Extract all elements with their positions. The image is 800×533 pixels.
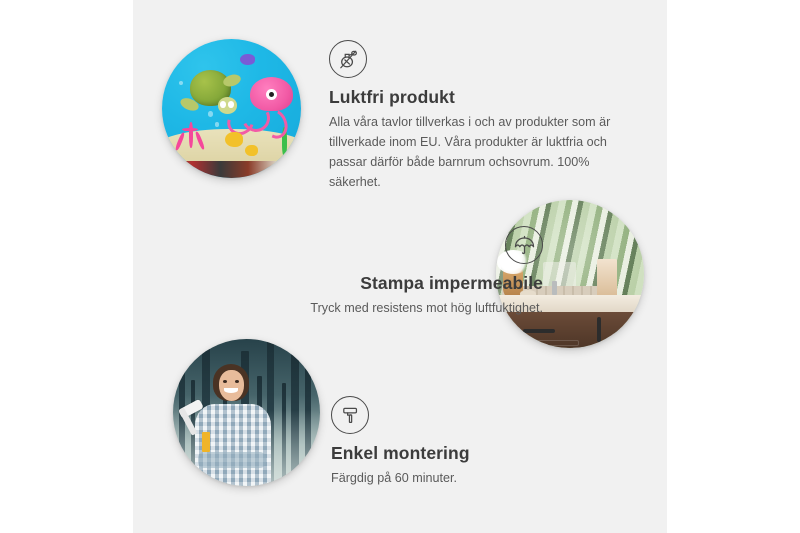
feature-panel: Luktfri produkt Alla våra tavlor tillver… xyxy=(133,0,667,533)
bubble-icon xyxy=(215,122,219,126)
underwater-scene xyxy=(162,39,301,178)
forest-wallpaper-scene xyxy=(173,339,320,486)
feature-description: Färgdig på 60 minuter. xyxy=(331,469,631,489)
icon-row xyxy=(331,396,631,434)
coral-icon xyxy=(175,120,208,153)
vanity-drawer xyxy=(511,340,580,346)
bubble-icon xyxy=(179,81,183,85)
purple-fish-icon xyxy=(240,54,255,65)
no-smell-perfume-bottle-icon xyxy=(329,40,367,78)
feature-title: Luktfri produkt xyxy=(329,87,629,109)
feature-title: Stampa impermeabile xyxy=(215,273,543,295)
woman-face xyxy=(219,370,244,401)
product-feature-page: Luktfri produkt Alla våra tavlor tillver… xyxy=(0,0,800,533)
feature-block-odor-free: Luktfri produkt Alla våra tavlor tillver… xyxy=(329,40,629,192)
icon-row xyxy=(329,40,629,78)
mirror xyxy=(543,262,576,289)
yellow-fish-icon xyxy=(225,132,243,147)
feature-title: Enkel montering xyxy=(331,443,631,465)
paint-roller-icon xyxy=(331,396,369,434)
feature-block-waterproof-print: Stampa impermeabile Tryck med resistens … xyxy=(215,226,543,319)
feature-image-woman-with-paint-roller xyxy=(173,339,320,486)
feature-block-easy-installation: Enkel montering Färgdig på 60 minuter. xyxy=(331,396,631,489)
woman-crossed-arms xyxy=(198,452,266,468)
faucet xyxy=(552,281,556,294)
icon-row xyxy=(215,226,543,264)
hand-tool xyxy=(202,432,209,453)
feature-description: Alla våra tavlor tillverkas i och av pro… xyxy=(329,113,629,193)
scene-foreground-strip xyxy=(162,161,301,178)
feature-image-underwater-cartoon-scene xyxy=(162,39,301,178)
cabinet-handle xyxy=(597,317,601,342)
yellow-fish-icon xyxy=(245,145,258,156)
umbrella-icon xyxy=(505,226,543,264)
feature-description: Tryck med resistens mot hög luftfuktighe… xyxy=(215,299,543,319)
towel xyxy=(597,259,618,297)
drawer-handle xyxy=(523,329,556,333)
